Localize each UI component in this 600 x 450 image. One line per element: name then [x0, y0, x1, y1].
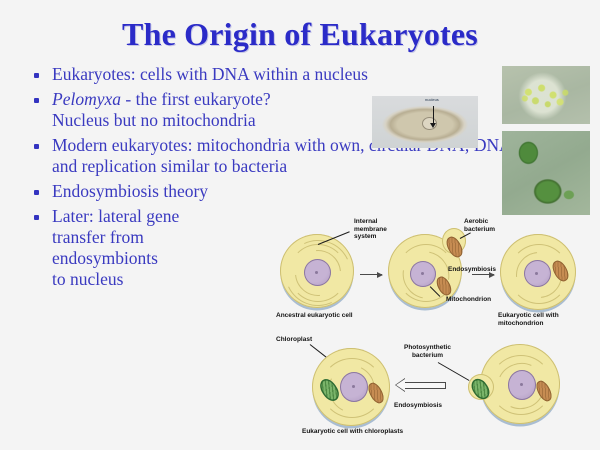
label-eukaryotic-cell-with-chloroplasts: Eukaryotic cell with chloroplasts — [302, 428, 403, 436]
list-item-label: Endosymbiosis theory — [52, 181, 208, 201]
bullet-marker-icon — [34, 73, 39, 78]
list-item: Pelomyxa - the first eukaryote? Nucleus … — [24, 89, 382, 131]
list-item: Endosymbiosis theory — [24, 181, 352, 202]
pelomyxa-micrograph: nucleus — [372, 96, 478, 148]
list-item-label: Eukaryotes: cells with DNA within a nucl… — [52, 64, 368, 84]
nucleus-pointer-arrow-icon — [433, 106, 434, 124]
bullet-marker-icon — [34, 190, 39, 195]
leader-line — [438, 362, 470, 381]
bullet-marker-icon — [34, 215, 39, 220]
eukaryotic-cell-with-mitochondrion — [500, 234, 576, 310]
label-ancestral-eukaryotic-cell: Ancestral eukaryotic cell — [276, 312, 353, 320]
species-name: Pelomyxa — [52, 89, 121, 109]
algae-colony-micrograph — [502, 66, 590, 124]
label-mitochondrion: Mitochondrion — [446, 296, 491, 304]
process-arrow-icon — [472, 274, 494, 275]
ancestral-eukaryotic-cell — [280, 234, 354, 308]
green-algae-micrograph — [502, 131, 590, 215]
eukaryotic-cell-with-chloroplasts — [312, 348, 390, 426]
label-endosymbiosis-bottom: Endosymbiosis — [394, 402, 442, 410]
process-arrow-icon — [404, 382, 446, 389]
label-chloroplast: Chloroplast — [276, 336, 312, 344]
process-arrow-icon — [360, 274, 382, 275]
bullet-marker-icon — [34, 144, 39, 149]
label-internal-membrane-system: Internal membrane system — [354, 218, 387, 241]
pelomyxa-nucleus-label: nucleus — [425, 97, 439, 102]
page-title: The Origin of Eukaryotes — [0, 16, 600, 53]
list-item-label: Later: lateral gene transfer from endosy… — [52, 206, 179, 289]
slide: The Origin of Eukaryotes Eukaryotes: cel… — [0, 0, 600, 450]
list-item-label: Pelomyxa - the first eukaryote? Nucleus … — [52, 89, 271, 130]
list-item: Eukaryotes: cells with DNA within a nucl… — [24, 64, 522, 85]
label-photosynthetic-bacterium: Photosynthetic bacterium — [404, 344, 451, 359]
list-item: Later: lateral gene transfer from endosy… — [24, 206, 252, 290]
endosymbiosis-diagram: Internal membrane system Ancestral eukar… — [268, 216, 600, 444]
label-eukaryotic-cell-with-mitochondrion: Eukaryotic cell with mitochondrion — [498, 312, 559, 327]
label-aerobic-bacterium: Aerobic bacterium — [464, 218, 495, 233]
bullet-marker-icon — [34, 98, 39, 103]
